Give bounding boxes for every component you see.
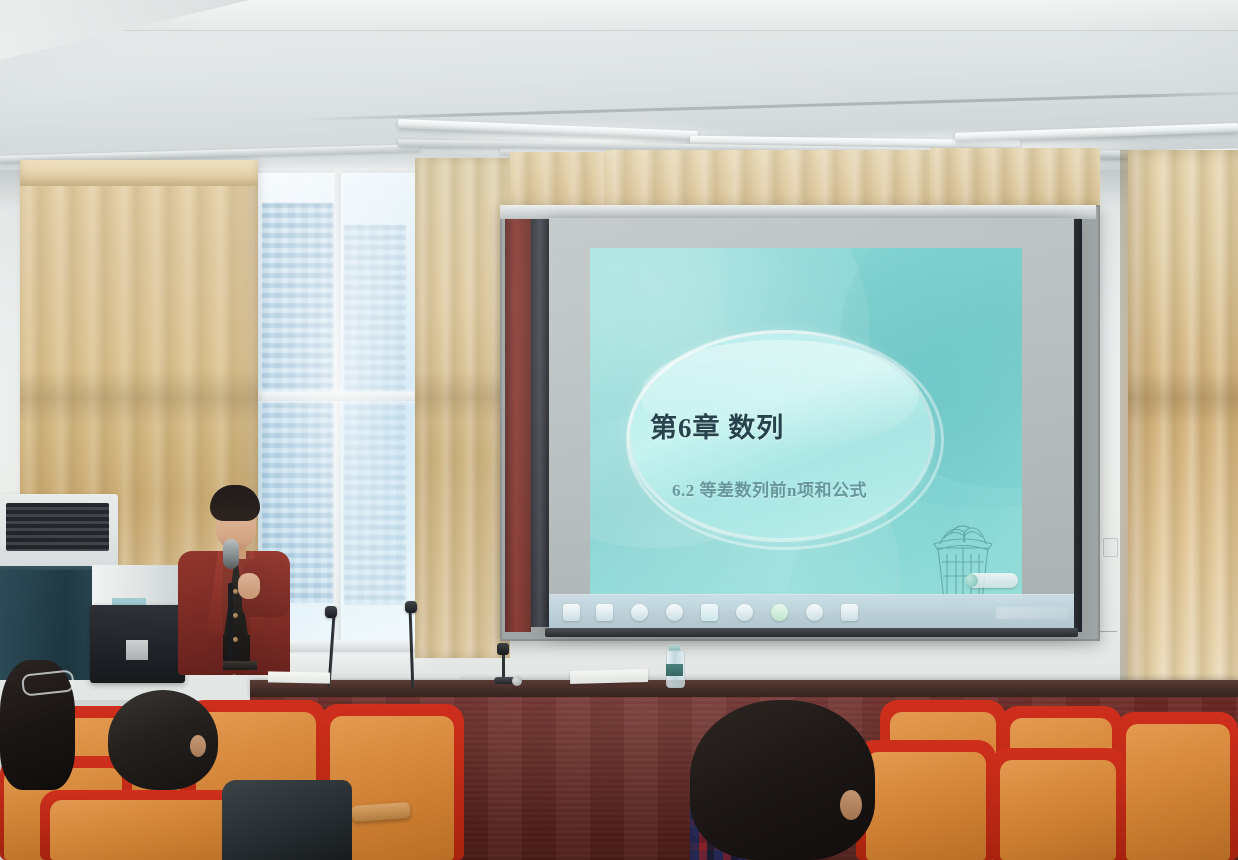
presenter: [176, 485, 306, 690]
messenger-icon[interactable]: [771, 604, 788, 621]
curtain-stain: [1128, 370, 1238, 425]
microphone-body: [228, 583, 233, 661]
coat-on-seat: [222, 780, 352, 860]
papers: [268, 671, 330, 683]
windows-start-icon[interactable]: [563, 604, 580, 621]
projection-screen-bottom-bar: [545, 628, 1078, 637]
desk-microphone-ball: [512, 676, 522, 686]
papers: [570, 669, 648, 684]
browser-icon[interactable]: [666, 604, 683, 621]
jacket-button: [233, 637, 238, 642]
blackboard-red-edge: [505, 212, 531, 632]
monitor-label: [126, 640, 148, 660]
powerpoint-slide: 第6章 数列 6.2 等差数列前n项和公式: [590, 248, 1022, 610]
desk-microphone-head: [497, 643, 509, 655]
presenter-hair: [210, 485, 260, 521]
window-mullion-horizontal: [258, 392, 416, 401]
curtain-header-pleat: [20, 160, 258, 186]
window-mullion-vertical: [334, 173, 341, 643]
classroom-photo-scene: 第6章 数列 6.2 等差数列前n项和公式: [0, 0, 1238, 860]
audience-member-foreground: [690, 700, 875, 860]
windows-taskbar[interactable]: [549, 594, 1074, 631]
audience-ear: [840, 790, 862, 820]
building-outside: [344, 225, 406, 605]
slide-title: 第6章 数列: [650, 406, 910, 445]
browser-icon[interactable]: [806, 604, 823, 621]
jacket-button: [233, 613, 238, 618]
browser-icon[interactable]: [631, 604, 648, 621]
presenter-belt: [223, 661, 257, 670]
slide-watermark-icon: [965, 574, 978, 587]
blackboard-dark-edge: [531, 215, 549, 627]
air-conditioner-grille: [6, 503, 109, 551]
system-tray[interactable]: [996, 607, 1068, 619]
office-icon[interactable]: [701, 604, 718, 621]
curtain-stain: [415, 372, 510, 422]
document-icon[interactable]: [841, 604, 858, 621]
blackboard-top-rail: [500, 205, 1096, 219]
audience-ear: [190, 735, 206, 757]
microphone-head: [223, 539, 239, 569]
slide-subtitle: 6.2 等差数列前n项和公式: [672, 476, 972, 501]
gift-box-line-art: [920, 504, 1006, 604]
curtain-stain: [20, 370, 258, 425]
presenter-hand: [238, 573, 260, 599]
media-player-icon[interactable]: [596, 604, 613, 621]
browser-icon[interactable]: [736, 604, 753, 621]
water-bottle-label: [666, 664, 683, 676]
